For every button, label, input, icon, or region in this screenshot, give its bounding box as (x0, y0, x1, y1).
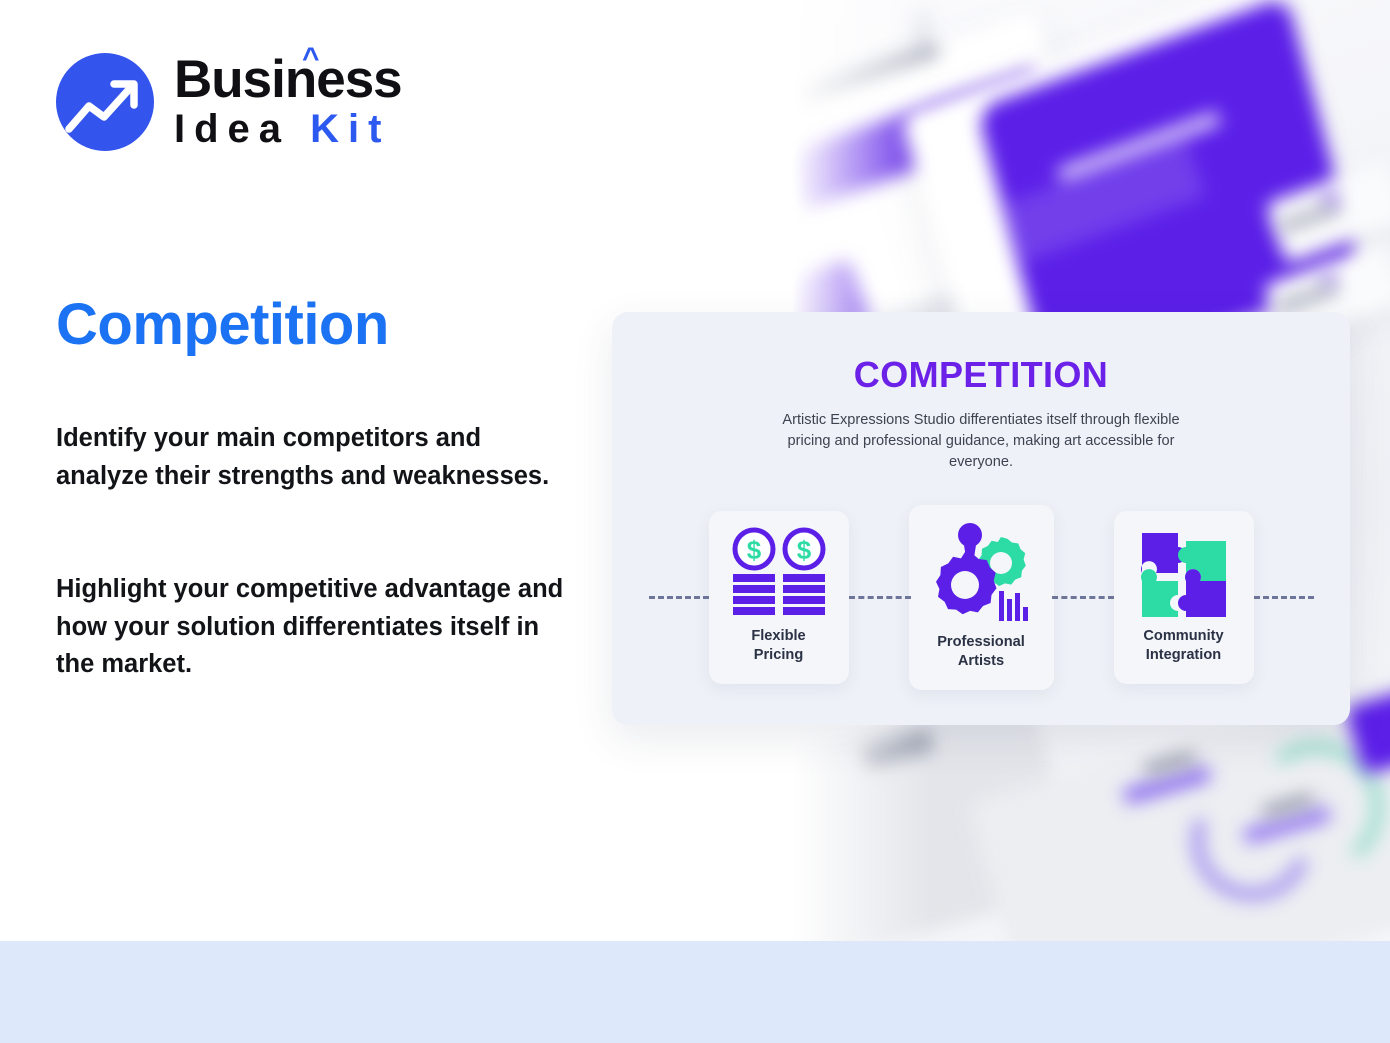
feature-row: $ $ (612, 505, 1350, 690)
feature-card-professional-artists[interactable]: Professional Artists (909, 505, 1054, 690)
feature-card-flexible-pricing[interactable]: $ $ (709, 511, 849, 684)
competition-preview-card[interactable]: COMPETITION Artistic Expressions Studio … (612, 312, 1350, 725)
brand-circumflex-accent-icon: ^ (302, 44, 319, 74)
feature-label-line-1: Professional (937, 634, 1025, 650)
feature-label-line-2: Pricing (754, 647, 803, 663)
feature-label-flexible-pricing: Flexible Pricing (751, 627, 805, 665)
feature-label-professional-artists: Professional Artists (937, 633, 1025, 671)
page-title: Competition (56, 296, 389, 354)
feature-label-community-integration: Community Integration (1143, 627, 1223, 665)
connector-dash-right (1254, 596, 1314, 599)
feature-label-line-2: Artists (958, 653, 1004, 669)
feature-label-line-1: Flexible (751, 628, 805, 644)
svg-text:$: $ (796, 535, 811, 565)
slide-root: Business ^ Idea Kit Competition Identify… (0, 0, 1390, 1043)
connector-dash-2 (1052, 596, 1114, 599)
feature-label-line-1: Community (1143, 628, 1223, 644)
brand-word-business: Business ^ (174, 54, 402, 106)
brand-logo: Business ^ Idea Kit (56, 53, 402, 151)
coin-stacks-dollar-icon: $ $ (727, 523, 831, 627)
puzzle-pieces-icon (1138, 523, 1230, 627)
feature-label-line-2: Integration (1146, 647, 1221, 663)
brand-wordmark: Business ^ Idea Kit (174, 54, 402, 150)
svg-text:$: $ (746, 535, 761, 565)
gears-lightbulb-barchart-icon (925, 517, 1037, 633)
connector-dash-1 (849, 596, 911, 599)
feature-card-community-integration[interactable]: Community Integration (1114, 511, 1254, 684)
bottom-color-band (0, 941, 1390, 1043)
brand-word-business-text: Business (174, 50, 402, 109)
preview-card-subtitle: Artistic Expressions Studio differentiat… (771, 410, 1191, 473)
description-paragraph-1: Identify your main competitors and analy… (56, 420, 576, 495)
brand-word-idea: Idea (174, 107, 290, 151)
description-paragraph-2: Highlight your competitive advantage and… (56, 571, 576, 684)
brand-word-kit: Kit (310, 107, 390, 151)
preview-card-title: COMPETITION (612, 354, 1350, 396)
brand-word-idea-kit: Idea Kit (174, 108, 402, 150)
connector-dash-left (649, 596, 709, 599)
growth-arrow-chart-icon (56, 53, 154, 151)
